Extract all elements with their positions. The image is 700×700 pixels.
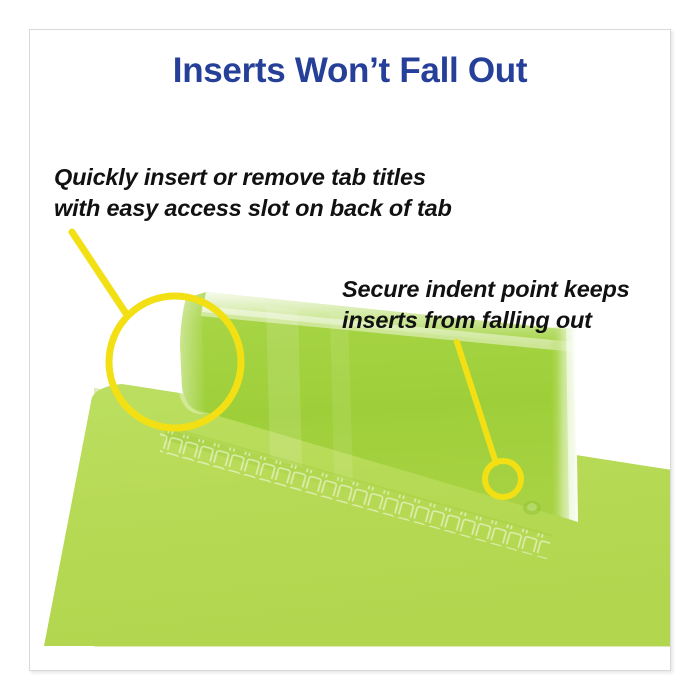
annotation-access-slot-line2: with easy access slot on back of tab [54, 193, 452, 224]
page-title: Inserts Won’t Fall Out [30, 52, 670, 91]
product-photo-artwork [30, 30, 671, 671]
secure-indent-point [523, 501, 541, 515]
annotation-access-slot-line1: Quickly insert or remove tab titles [54, 162, 452, 193]
annotation-secure-indent-point-line2: inserts from falling out [342, 305, 630, 336]
product-photo-card: Inserts Won’t Fall Out Quickly insert or… [29, 29, 671, 671]
annotation-access-slot: Quickly insert or remove tab titles with… [54, 162, 452, 224]
screenshot-root: Inserts Won’t Fall Out Quickly insert or… [0, 0, 700, 700]
annotation-secure-indent-point-line1: Secure indent point keeps [342, 274, 630, 305]
annotation-secure-indent-point: Secure indent point keeps inserts from f… [342, 274, 630, 336]
